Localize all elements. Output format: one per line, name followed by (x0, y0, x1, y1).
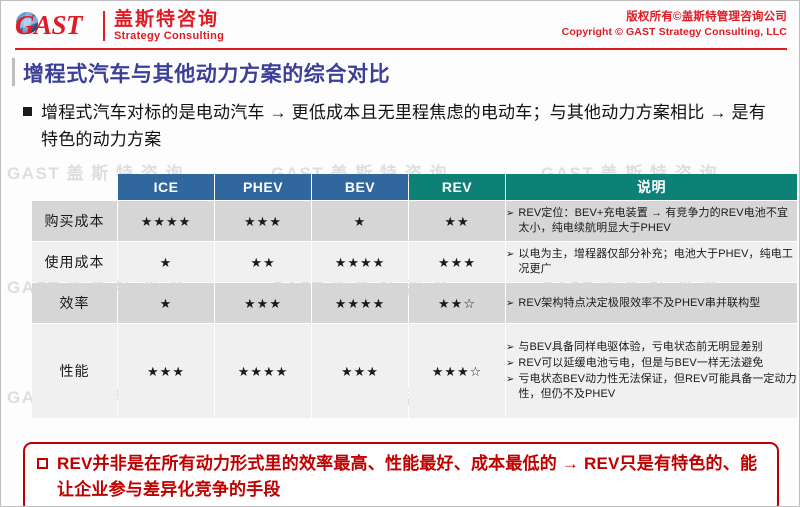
cell-bev-rating: ★★★ (312, 324, 408, 418)
cell-ice-rating: ★ (118, 283, 214, 323)
logo-tagline: Strategy Consulting (114, 30, 224, 43)
star-rating: ★★ (250, 255, 275, 270)
cell-ice-rating: ★ (118, 242, 214, 282)
logo-chinese-name: 盖斯特咨询 (114, 10, 224, 30)
note-text: REV定位：BEV+充电装置 → 有竞争力的REV电池不宜太小，纯电续航明显大于… (518, 206, 797, 236)
header-cell-bev: BEV (312, 174, 408, 200)
star-rating: ★★★★ (238, 364, 289, 379)
cell-note: ➢ REV架构特点决定极限效率不及PHEV串并联构型 (506, 283, 797, 323)
arrow-bullet-icon: ➢ (506, 206, 514, 221)
arrow-bullet-icon: ➢ (506, 340, 514, 355)
cell-rev-rating: ★★★ (409, 242, 505, 282)
conclusion-text: REV并非是在所有动力形式里的效率最高、性能最好、成本最低的 → REV只是有特… (57, 451, 765, 503)
page-title: 增程式汽车与其他动力方案的综合对比 (23, 58, 390, 88)
table-header-row: ICE PHEV BEV REV 说明 (32, 174, 797, 200)
note-item: ➢ REV架构特点决定极限效率不及PHEV串并联构型 (506, 296, 797, 311)
logo-divider (103, 11, 105, 41)
gast-logo-mark: GAST (15, 9, 101, 43)
row-label-performance: 性能 (32, 324, 117, 418)
cell-bev-rating: ★★★★ (312, 242, 408, 282)
star-rating: ★★★★ (335, 255, 386, 270)
comparison-table-wrap: ICE PHEV BEV REV 说明 购买成本 ★★★★ ★★★ ★ ★★ (31, 173, 791, 419)
note-item: ➢ 与BEV具备同样电驱体验，亏电状态前无明显差别 (506, 340, 797, 355)
star-rating: ★ (354, 214, 367, 229)
cell-phev-rating: ★★★ (215, 283, 311, 323)
row-label-usage-cost: 使用成本 (32, 242, 117, 282)
star-rating: ★★★ (147, 364, 185, 379)
note-text: 以电为主，增程器仅部分补充；电池大于PHEV，纯电工况更广 (518, 247, 797, 277)
star-rating: ★★★★ (141, 214, 192, 229)
logo-wordmark: GAST (15, 9, 82, 41)
note-item: ➢ REV可以延缓电池亏电，但是与BEV一样无法避免 (506, 356, 797, 371)
logo-chinese-block: 盖斯特咨询 Strategy Consulting (114, 10, 224, 43)
star-rating: ★★★ (341, 364, 379, 379)
slide-header: GAST 盖斯特咨询 Strategy Consulting 版权所有©盖斯特管… (1, 1, 800, 49)
table-row: 购买成本 ★★★★ ★★★ ★ ★★ ➢ REV定位：BEV+充电装置 → 有竞… (32, 201, 797, 241)
cell-phev-rating: ★★★★ (215, 324, 311, 418)
star-rating: ★ (160, 296, 173, 311)
comparison-table: ICE PHEV BEV REV 说明 购买成本 ★★★★ ★★★ ★ ★★ (31, 173, 798, 419)
header-cell-note: 说明 (506, 174, 797, 200)
cell-note: ➢ 以电为主，增程器仅部分补充；电池大于PHEV，纯电工况更广 (506, 242, 797, 282)
star-rating: ★★★ (438, 255, 476, 270)
note-text: 与BEV具备同样电驱体验，亏电状态前无明显差别 (518, 340, 797, 355)
header-cell-rev: REV (409, 174, 505, 200)
conclusion-box: REV并非是在所有动力形式里的效率最高、性能最好、成本最低的 → REV只是有特… (23, 442, 779, 507)
header-cell-ice: ICE (118, 174, 214, 200)
star-rating: ★★ (444, 214, 469, 229)
star-rating: ★★☆ (438, 296, 476, 311)
cell-rev-rating: ★★ (409, 201, 505, 241)
arrow-bullet-icon: ➢ (506, 296, 514, 311)
copyright-chinese: 版权所有©盖斯特管理咨询公司 (562, 10, 787, 25)
cell-ice-rating: ★★★★ (118, 201, 214, 241)
conclusion-marker-icon (37, 458, 48, 469)
copyright-block: 版权所有©盖斯特管理咨询公司 Copyright © GAST Strategy… (562, 10, 787, 39)
cell-bev-rating: ★ (312, 201, 408, 241)
arrow-bullet-icon: ➢ (506, 356, 514, 371)
star-rating: ★★★☆ (432, 364, 483, 379)
star-rating: ★★★ (244, 296, 282, 311)
cell-phev-rating: ★★ (215, 242, 311, 282)
lead-bullet: 增程式汽车对标的是电动汽车 → 更低成本且无里程焦虑的电动车；与其他动力方案相比… (23, 99, 783, 153)
note-item: ➢ REV定位：BEV+充电装置 → 有竞争力的REV电池不宜太小，纯电续航明显… (506, 206, 797, 236)
cell-ice-rating: ★★★ (118, 324, 214, 418)
header-divider-rule (15, 48, 787, 50)
note-text: 亏电状态BEV动力性无法保证，但REV可能具备一定动力性，但仍不及PHEV (518, 372, 797, 402)
brand-logo: GAST 盖斯特咨询 Strategy Consulting (15, 8, 224, 44)
star-rating: ★★★ (244, 214, 282, 229)
note-text: REV可以延缓电池亏电，但是与BEV一样无法避免 (518, 356, 797, 371)
header-cell-blank (32, 174, 117, 200)
star-rating: ★ (160, 255, 173, 270)
note-text: REV架构特点决定极限效率不及PHEV串并联构型 (518, 296, 797, 311)
lead-bullet-text: 增程式汽车对标的是电动汽车 → 更低成本且无里程焦虑的电动车；与其他动力方案相比… (41, 99, 783, 153)
row-label-efficiency: 效率 (32, 283, 117, 323)
table-row: 性能 ★★★ ★★★★ ★★★ ★★★☆ ➢ 与BEV具备同样电驱体验，亏电状态… (32, 324, 797, 418)
table-body: 购买成本 ★★★★ ★★★ ★ ★★ ➢ REV定位：BEV+充电装置 → 有竞… (32, 201, 797, 418)
arrow-bullet-icon: ➢ (506, 372, 514, 387)
arrow-bullet-icon: ➢ (506, 247, 514, 262)
star-rating: ★★★★ (335, 296, 386, 311)
copyright-english: Copyright © GAST Strategy Consulting, LL… (562, 25, 787, 39)
row-label-purchase-cost: 购买成本 (32, 201, 117, 241)
cell-note: ➢ REV定位：BEV+充电装置 → 有竞争力的REV电池不宜太小，纯电续航明显… (506, 201, 797, 241)
bullet-square-icon (23, 107, 32, 116)
note-item: ➢ 亏电状态BEV动力性无法保证，但REV可能具备一定动力性，但仍不及PHEV (506, 372, 797, 402)
slide-canvas: GAST 盖 斯 特 咨 询 GAST 盖 斯 特 咨 询 GAST 盖 斯 特… (0, 0, 800, 507)
table-row: 使用成本 ★ ★★ ★★★★ ★★★ ➢ 以电为主，增程器仅部分补充；电池大于P… (32, 242, 797, 282)
cell-rev-rating: ★★★☆ (409, 324, 505, 418)
cell-note: ➢ 与BEV具备同样电驱体验，亏电状态前无明显差别 ➢ REV可以延缓电池亏电，… (506, 324, 797, 418)
table-row: 效率 ★ ★★★ ★★★★ ★★☆ ➢ REV架构特点决定极限效率不及PHEV串… (32, 283, 797, 323)
cell-phev-rating: ★★★ (215, 201, 311, 241)
note-item: ➢ 以电为主，增程器仅部分补充；电池大于PHEV，纯电工况更广 (506, 247, 797, 277)
cell-bev-rating: ★★★★ (312, 283, 408, 323)
title-accent-bar (12, 58, 15, 86)
cell-rev-rating: ★★☆ (409, 283, 505, 323)
header-cell-phev: PHEV (215, 174, 311, 200)
table-header: ICE PHEV BEV REV 说明 (32, 174, 797, 200)
